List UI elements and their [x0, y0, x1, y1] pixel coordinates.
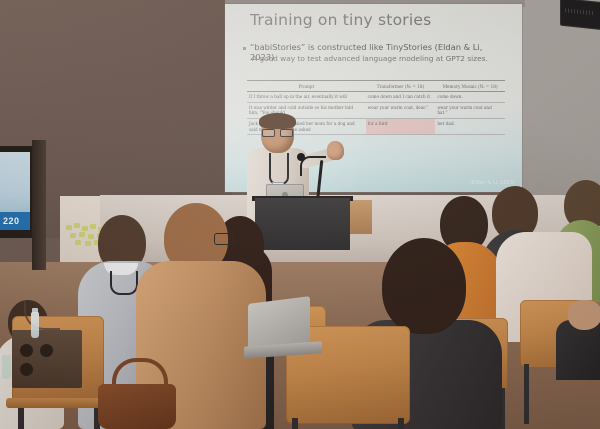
- chair-leg: [292, 418, 298, 429]
- column-header-memory-mosaic: Memory Mosaic (Nₗ = 18): [435, 81, 505, 92]
- ceiling-speaker-icon: [560, 0, 600, 30]
- cell-memory-mosaic: wear your warm coat and hat.”: [435, 102, 505, 118]
- water-bottle: [31, 312, 39, 338]
- presenter-hair: [259, 113, 296, 129]
- bullet-square-icon: [243, 47, 246, 50]
- table-header-row: Prompt Transformer (Nₗ = 18) Memory Mosa…: [247, 81, 505, 92]
- cell-transformer: wear your warm coat, dear.”: [366, 102, 436, 118]
- speaker-port: [20, 344, 33, 357]
- slide-title: Training on tiny stories: [250, 11, 431, 29]
- foreground-hand: [568, 300, 600, 330]
- chair-seat: [6, 398, 106, 408]
- lecture-hall-photo: 220 Training on tiny stories “babiStorie…: [0, 0, 600, 429]
- speaker-grill: [565, 8, 595, 15]
- speaker-port: [40, 344, 53, 357]
- table-row: If I throw a ball up in the air, eventua…: [247, 92, 505, 103]
- column-header-prompt: Prompt: [247, 81, 366, 92]
- glasses-icon: [262, 129, 293, 135]
- floor-speaker-cabinet: [12, 330, 82, 388]
- stage-side-panel: [350, 200, 372, 234]
- chair-leg: [524, 364, 529, 424]
- water-bottle-secondary: [2, 355, 11, 379]
- head: [382, 238, 466, 334]
- cell-transformer: for a bird: [366, 119, 436, 135]
- slide-subbullet-text: A good way to test advanced language mod…: [252, 54, 517, 63]
- lanyard: [110, 271, 138, 295]
- cell-memory-mosaic: her dad.: [435, 119, 505, 135]
- presenter-hand: [327, 141, 344, 160]
- room-number-label: 220: [0, 217, 20, 226]
- chair-leg: [398, 418, 404, 429]
- speaker-port: [20, 363, 33, 376]
- cell-transformer: come down and I can catch it: [366, 92, 436, 103]
- wall-column: [32, 140, 46, 270]
- glasses-icon: [214, 233, 234, 245]
- lanyard: [269, 153, 289, 185]
- cell-memory-mosaic: come down.: [435, 92, 505, 103]
- leather-bag: [98, 384, 176, 429]
- room-number-sign: 220: [0, 212, 30, 230]
- column-header-transformer: Transformer (Nₗ = 18): [366, 81, 436, 92]
- microphone-head-icon: [297, 153, 305, 161]
- audience-laptop: [248, 300, 326, 358]
- cell-prompt: If I throw a ball up in the air, eventua…: [247, 92, 366, 103]
